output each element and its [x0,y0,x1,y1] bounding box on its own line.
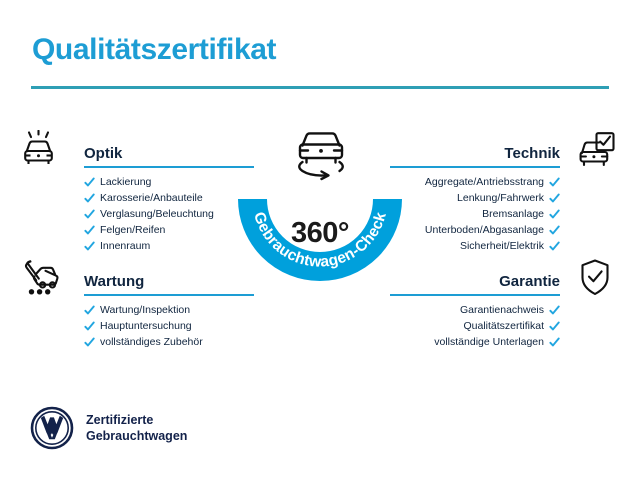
check-icon [84,305,95,316]
check-icon [84,177,95,188]
list-item-label: Qualitätszertifikat [463,321,544,332]
list-item: vollständiges Zubehör [22,334,252,350]
check-list-garantie: Garantienachweis Qualitätszertifikat vol… [388,302,618,350]
check-icon [549,209,560,220]
list-item-label: Unterboden/Abgasanlage [425,225,544,236]
check-icon [549,321,560,332]
list-item-label: Felgen/Reifen [100,225,165,236]
list-item: Lenkung/Fahrwerk [388,190,618,206]
list-item: Garantienachweis [388,302,618,318]
list-item: Verglasung/Beleuchtung [22,206,252,222]
list-item: Felgen/Reifen [22,222,252,238]
section-header-technik: Technik [388,128,618,174]
section-title-technik: Technik [504,145,560,162]
section-title-optik: Optik [84,145,122,162]
list-item: Karosserie/Anbauteile [22,190,252,206]
list-item-label: vollständiges Zubehör [100,337,203,348]
list-item: Bremsanlage [388,206,618,222]
list-item-label: Sicherheit/Elektrik [460,241,544,252]
footer-text: Zertifizierte Gebrauchtwagen [86,412,187,445]
section-header-garantie: Garantie [388,256,618,302]
footer-line-2: Gebrauchtwagen [86,429,187,443]
volkswagen-logo [30,406,74,450]
section-title-wartung: Wartung [84,273,144,290]
list-item-label: Hauptuntersuchung [100,321,192,332]
section-garantie: Garantie Garantienachweis Qualitätszerti… [388,256,618,350]
car-wrench-icon [22,258,68,298]
list-item: vollständige Unterlagen [388,334,618,350]
title-divider [31,86,609,89]
section-underline-garantie [390,294,560,296]
car-shine-icon [22,130,68,170]
check-icon [549,305,560,316]
check-icon [549,193,560,204]
section-technik: Technik Aggregate/Antriebsstrang Lenkung… [388,128,618,254]
check-list-optik: Lackierung Karosserie/Anbauteile Verglas… [22,174,252,254]
check-icon [84,225,95,236]
check-list-wartung: Wartung/Inspektion Hauptuntersuchung vol… [22,302,252,350]
list-item: Sicherheit/Elektrik [388,238,618,254]
section-header-wartung: Wartung [22,256,252,302]
list-item: Unterboden/Abgasanlage [388,222,618,238]
list-item-label: Bremsanlage [482,209,544,220]
list-item-label: Innenraum [100,241,150,252]
list-item: Lackierung [22,174,252,190]
check-list-technik: Aggregate/Antriebsstrang Lenkung/Fahrwer… [388,174,618,254]
check-icon [549,177,560,188]
list-item-label: Aggregate/Antriebsstrang [425,177,544,188]
page-title: Qualitätszertifikat [32,33,276,67]
check-icon [84,209,95,220]
check-icon [84,241,95,252]
section-underline-wartung [84,294,254,296]
list-item-label: Lenkung/Fahrwerk [457,193,544,204]
list-item-label: Verglasung/Beleuchtung [100,209,214,220]
car-checkbox-icon [572,130,618,170]
list-item: Hauptuntersuchung [22,318,252,334]
list-item: Innenraum [22,238,252,254]
list-item-label: Karosserie/Anbauteile [100,193,203,204]
list-item-label: Garantienachweis [460,305,544,316]
section-optik: Optik Lackierung Karosserie/Anbauteile [22,128,252,254]
list-item: Qualitätszertifikat [388,318,618,334]
section-underline-optik [84,166,254,168]
footer-brand: Zertifizierte Gebrauchtwagen [30,406,187,450]
section-underline-technik [390,166,560,168]
list-item-label: Lackierung [100,177,151,188]
check-icon [549,241,560,252]
list-item-label: Wartung/Inspektion [100,305,190,316]
shield-check-icon [572,258,618,298]
check-icon [84,193,95,204]
badge-center-label: 360° [238,217,402,250]
list-item: Wartung/Inspektion [22,302,252,318]
car-rotate-icon [285,125,357,181]
check-icon [549,337,560,348]
gebrauchtwagen-check-badge: Gebrauchtwagen-Check 360° [238,125,402,305]
check-icon [84,321,95,332]
list-item-label: vollständige Unterlagen [434,337,544,348]
section-title-garantie: Garantie [499,273,560,290]
footer-line-1: Zertifizierte [86,413,153,427]
section-header-optik: Optik [22,128,252,174]
list-item: Aggregate/Antriebsstrang [388,174,618,190]
section-wartung: Wartung Wartung/Inspektion Hauptuntersuc… [22,256,252,350]
check-icon [84,337,95,348]
certificate-page: Qualitätszertifikat Optik [0,0,640,480]
check-icon [549,225,560,236]
